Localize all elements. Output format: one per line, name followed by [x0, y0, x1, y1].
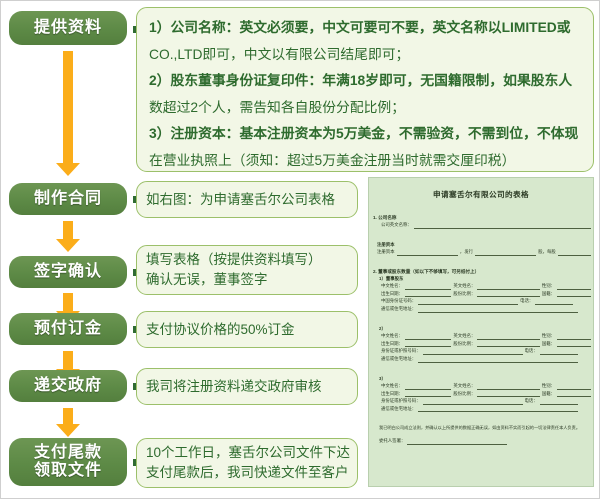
callout-text: 如右图：为申请塞舌尔公司表格 [146, 192, 335, 207]
doc-row-birth: 出生日期： 股份比例： 国籍： [381, 340, 593, 348]
callout-text: 10个工作日，塞舌尔公司文件下达 [146, 445, 350, 460]
doc-field-label: 国籍： [542, 290, 555, 298]
doc-section-2-number: 2. [373, 269, 377, 274]
step-label-line-2: 领取文件 [34, 462, 102, 480]
doc-section-1-number: 1. [373, 215, 377, 220]
step-pill-submit-government[interactable]: 递交政府 [9, 370, 127, 402]
doc-row-birth: 出生日期： 股份比例： 国籍： [381, 290, 593, 298]
doc-field-label: 电话： [520, 297, 533, 305]
callout-text: 在营业执照上（须知：超过5万美金注册当时就需交厘印税） [149, 153, 515, 168]
callout-provide-materials: 1）公司名称：英文必须要，中文可要可不要，英文名称以LIMITED或 CO.,L… [136, 7, 594, 172]
callout-text: 支付尾款后，我司快递文件至客户 [146, 465, 349, 480]
doc-field-rule[interactable] [405, 334, 451, 340]
callout-line: 确认无误，董事签字 [146, 270, 348, 290]
callout-line: 支付协议价格的50%订金 [146, 320, 348, 340]
callout-line: 在营业执照上（须知：超过5万美金注册当时就需交厘印税） [149, 148, 581, 175]
doc-field-company-en: 公司英文名称： [381, 221, 593, 229]
doc-field-label: 注册资本 [377, 248, 395, 256]
doc-field-rule[interactable] [418, 406, 578, 412]
doc-field-label: 出生日期： [381, 290, 403, 298]
doc-field-label: 性别： [542, 282, 555, 290]
callout-line: 2）股东董事身份证复印件：年满18岁即可，无国籍限制，如果股东人 [149, 68, 581, 95]
step-pill-make-contract[interactable]: 制作合同 [9, 183, 127, 215]
doc-field-rule[interactable] [477, 334, 540, 340]
doc-section-2-heading: 2. 董事或股东数量（如以下不够填写，可另纸付上） [373, 268, 593, 275]
doc-field-label: 注册资本 [377, 241, 395, 249]
callout-line: 3）注册资本：基本注册资本为5万美金，不需验资，不需到位，不体现 [149, 121, 581, 148]
down-arrow-icon-5 [56, 408, 80, 436]
doc-title: 申请塞舌尔有限公司的表格 [369, 189, 593, 200]
callout-line: 10个工作日，塞舌尔公司文件下达 [146, 443, 348, 463]
doc-capital-heading: 注册资本 [377, 241, 593, 249]
doc-field-rule[interactable] [414, 223, 591, 229]
callout-line: 1）公司名称：英文必须要，中文可要可不要，英文名称以LIMITED或 [149, 15, 581, 42]
doc-row-address: 通信或住宅地址： [381, 305, 593, 313]
doc-field-label: ，发行 [460, 248, 473, 256]
doc-section-2-title: 董事或股东数量（如以下不够填写，可另纸付上） [378, 269, 479, 274]
doc-field-label: 股份比例： [453, 340, 475, 348]
doc-field-rule[interactable] [405, 284, 451, 290]
callout-line: 我司将注册资料递交政府审核 [146, 377, 348, 397]
callout-line: 数超过2个人，需告知各自股份分配比例； [149, 95, 581, 122]
step-label: 签字确认 [34, 263, 102, 281]
step-label: 制作合同 [34, 190, 102, 208]
doc-field-label: 国籍： [542, 340, 555, 348]
callout-sign-confirm: 填写表格（按提供资料填写） 确认无误，董事签字 [136, 245, 358, 295]
doc-field-label: 性别： [542, 332, 555, 340]
doc-field-label: 电话： [525, 397, 538, 405]
doc-field-label: 身份证或护照号码： [381, 347, 421, 355]
doc-field-label: 股份比例： [453, 390, 475, 398]
doc-field-label: 中文姓名： [381, 332, 403, 340]
doc-field-label: 股份比例： [453, 290, 475, 298]
doc-field-rule[interactable] [557, 334, 591, 340]
flowchart-page: 提供资料 1）公司名称：英文必须要，中文可要可不要，英文名称以LIMITED或 … [0, 0, 600, 499]
doc-field-rule[interactable] [418, 307, 578, 313]
doc-field-label: 委托人签署： [379, 437, 405, 445]
doc-row-address: 通信或住宅地址： [381, 355, 593, 363]
doc-field-rule[interactable] [535, 299, 573, 305]
doc-row-id: 身份证或护照号码： 电话： [381, 397, 593, 405]
doc-signature-row: 委托人签署： [379, 437, 593, 445]
callout-text: 确认无误，董事签字 [146, 272, 268, 287]
callout-text: 1）公司名称：英文必须要，中文可要可不要，英文名称以LIMITED或 [149, 20, 571, 35]
doc-field-rule[interactable] [557, 284, 591, 290]
step-label: 递交政府 [34, 377, 102, 395]
doc-field-label: 中文姓名： [381, 282, 403, 290]
step-pill-provide-materials[interactable]: 提供资料 [9, 11, 127, 45]
step-label: 提供资料 [34, 19, 102, 37]
doc-subsection-2: 2） [379, 325, 593, 333]
doc-section-1-title: 公司名称 [378, 215, 396, 220]
callout-submit-government: 我司将注册资料递交政府审核 [136, 368, 358, 405]
doc-field-rule[interactable] [557, 291, 591, 297]
doc-field-rule[interactable] [557, 384, 591, 390]
doc-row-name: 中文姓名： 英文姓名： 性别： [381, 332, 593, 340]
doc-field-label: 中文姓名： [381, 382, 403, 390]
step-pill-sign-confirm[interactable]: 签字确认 [9, 256, 127, 288]
doc-row-birth: 出生日期： 股份比例： 国籍： [381, 390, 593, 398]
callout-line: 支付尾款后，我司快递文件至客户 [146, 463, 348, 483]
doc-field-label: 中国身份证号码： [381, 297, 416, 305]
callout-text: 2）股东董事身份证复印件：年满18岁即可，无国籍限制，如果股东人 [149, 73, 572, 88]
doc-declaration-text: 我已明白公司成立法则，并确认以上所提供的数据正确无误，如由资料不实而引起的一切法… [379, 424, 585, 431]
doc-field-rule[interactable] [557, 391, 591, 397]
callout-text: 填写表格（按提供资料填写） [146, 252, 322, 267]
doc-field-label: 通信或住宅地址： [381, 355, 416, 363]
doc-field-rule[interactable] [558, 250, 591, 256]
callout-text: 数超过2个人，需告知各自股份分配比例； [149, 100, 405, 115]
doc-row-id: 中国身份证号码： 电话： [381, 297, 593, 305]
doc-field-label: 国籍： [542, 390, 555, 398]
doc-field-capital: 注册资本 ，发行 股，每股 [377, 248, 593, 256]
step-pill-prepay-deposit[interactable]: 预付订金 [9, 313, 127, 345]
doc-subsection-1: 1）董事股东 [379, 275, 593, 283]
down-arrow-icon-1 [56, 51, 80, 176]
doc-field-rule[interactable] [540, 399, 578, 405]
doc-field-rule[interactable] [557, 341, 591, 347]
doc-row-id: 身份证或护照号码： 电话： [381, 347, 593, 355]
doc-field-label: 公司英文名称： [381, 221, 412, 229]
callout-text: 支付协议价格的50%订金 [146, 322, 295, 337]
doc-field-label: 性别： [542, 382, 555, 390]
doc-field-rule[interactable] [405, 384, 451, 390]
step-label-line-1: 支付尾款 [34, 444, 102, 462]
doc-field-label: 英文姓名： [453, 332, 475, 340]
callout-prepay-deposit: 支付协议价格的50%订金 [136, 311, 358, 348]
doc-field-rule[interactable] [397, 250, 458, 256]
doc-field-rule[interactable] [475, 250, 536, 256]
doc-field-rule[interactable] [423, 399, 523, 405]
doc-field-label: 身份证或护照号码： [381, 397, 421, 405]
doc-field-label: 股，每股 [538, 248, 556, 256]
callout-make-contract: 如右图：为申请塞舌尔公司表格 [136, 181, 358, 218]
doc-field-rule[interactable] [477, 284, 540, 290]
doc-field-label: 英文姓名： [453, 282, 475, 290]
doc-field-label: 通信或住宅地址： [381, 305, 416, 313]
doc-field-rule[interactable] [540, 349, 578, 355]
doc-field-rule[interactable] [477, 384, 540, 390]
doc-field-label: 出生日期： [381, 390, 403, 398]
callout-text: CO.,LTD即可，中文以有限公司结尾即可； [149, 47, 409, 62]
doc-field-label: 英文姓名： [453, 382, 475, 390]
step-pill-final-payment[interactable]: 支付尾款 领取文件 [9, 438, 127, 486]
callout-line: 填写表格（按提供资料填写） [146, 250, 348, 270]
document-preview-form: 申请塞舌尔有限公司的表格 1. 公司名称 公司英文名称： 注册资本 注册资本 ，… [368, 177, 594, 487]
callout-line: 如右图：为申请塞舌尔公司表格 [146, 190, 348, 210]
doc-signature-rule[interactable] [407, 439, 507, 445]
callout-line: CO.,LTD即可，中文以有限公司结尾即可； [149, 42, 581, 69]
callout-final-payment: 10个工作日，塞舌尔公司文件下达 支付尾款后，我司快递文件至客户 [136, 438, 358, 488]
doc-field-label: 出生日期： [381, 340, 403, 348]
doc-row-name: 中文姓名： 英文姓名： 性别： [381, 282, 593, 290]
step-label: 预付订金 [34, 320, 102, 338]
doc-row-name: 中文姓名： 英文姓名： 性别： [381, 382, 593, 390]
down-arrow-icon-2 [56, 221, 80, 251]
doc-field-rule[interactable] [423, 349, 523, 355]
callout-text: 3）注册资本：基本注册资本为5万美金，不需验资，不需到位，不体现 [149, 126, 578, 141]
doc-field-label: 电话： [525, 347, 538, 355]
doc-field-rule[interactable] [418, 299, 518, 305]
doc-field-rule[interactable] [418, 357, 578, 363]
doc-section-1-heading: 1. 公司名称 [373, 214, 593, 221]
doc-field-label: 通信或住宅地址： [381, 405, 416, 413]
callout-text: 我司将注册资料递交政府审核 [146, 379, 322, 394]
doc-subsection-3: 3） [379, 375, 593, 383]
doc-row-address: 通信或住宅地址： [381, 405, 593, 413]
